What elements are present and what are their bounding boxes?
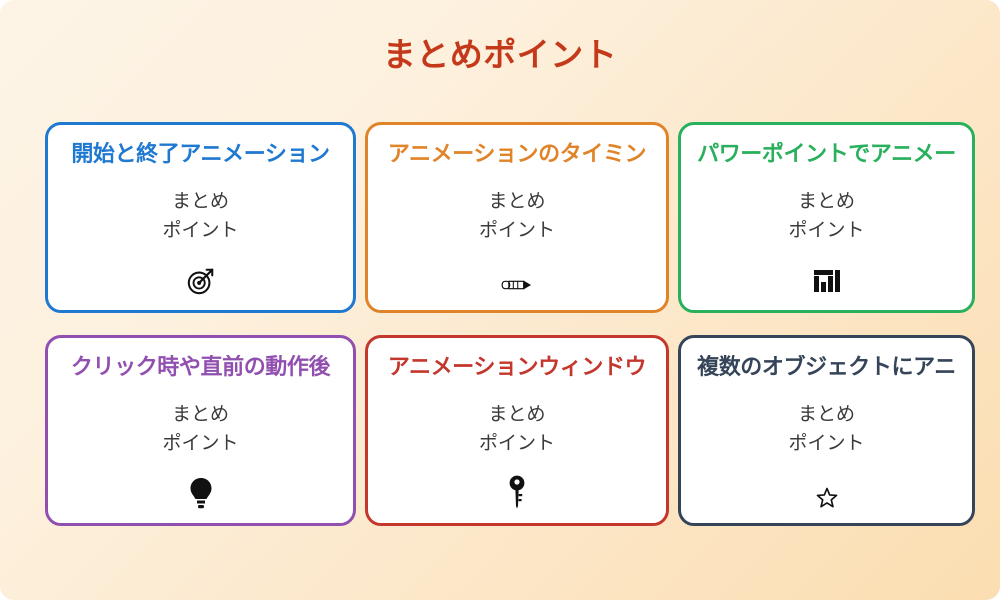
card-body-text: まとめ ポイント <box>368 400 666 459</box>
summary-card[interactable]: 複数のオブジェクトにアニ まとめ ポイント <box>678 335 975 526</box>
card-body-text: まとめ ポイント <box>681 400 972 459</box>
card-title: パワーポイントでアニメー <box>681 142 972 165</box>
card-body-text: まとめ ポイント <box>48 400 353 459</box>
summary-card[interactable]: アニメーションのタイミン まとめ ポイント <box>365 122 669 313</box>
card-title: 開始と終了アニメーション <box>48 142 353 165</box>
star-icon <box>681 483 972 509</box>
page-title: まとめポイント <box>0 28 1000 76</box>
lightbulb-icon <box>48 477 353 509</box>
dart-target-icon <box>48 266 353 296</box>
card-title: アニメーションウィンドウ <box>368 355 666 378</box>
summary-card-grid: 開始と終了アニメーション まとめ ポイント アニメーションのタイミン まとめ ポ… <box>45 122 975 526</box>
pencil-icon <box>368 270 666 296</box>
summary-card[interactable]: パワーポイントでアニメー まとめ ポイント <box>678 122 975 313</box>
card-title: 複数のオブジェクトにアニ <box>681 355 972 378</box>
card-body-text: まとめ ポイント <box>681 187 972 246</box>
card-body-text: まとめ ポイント <box>48 187 353 246</box>
card-title: アニメーションのタイミン <box>368 142 666 165</box>
summary-card[interactable]: 開始と終了アニメーション まとめ ポイント <box>45 122 356 313</box>
summary-card[interactable]: クリック時や直前の動作後 まとめ ポイント <box>45 335 356 526</box>
summary-points-slide: まとめポイント 開始と終了アニメーション まとめ ポイント アニメーションのタイ… <box>0 0 1000 600</box>
card-body-text: まとめ ポイント <box>368 187 666 246</box>
card-title: クリック時や直前の動作後 <box>48 355 353 378</box>
key-icon <box>368 475 666 509</box>
summary-card[interactable]: アニメーションウィンドウ まとめ ポイント <box>365 335 669 526</box>
bar-chart-icon <box>681 266 972 296</box>
